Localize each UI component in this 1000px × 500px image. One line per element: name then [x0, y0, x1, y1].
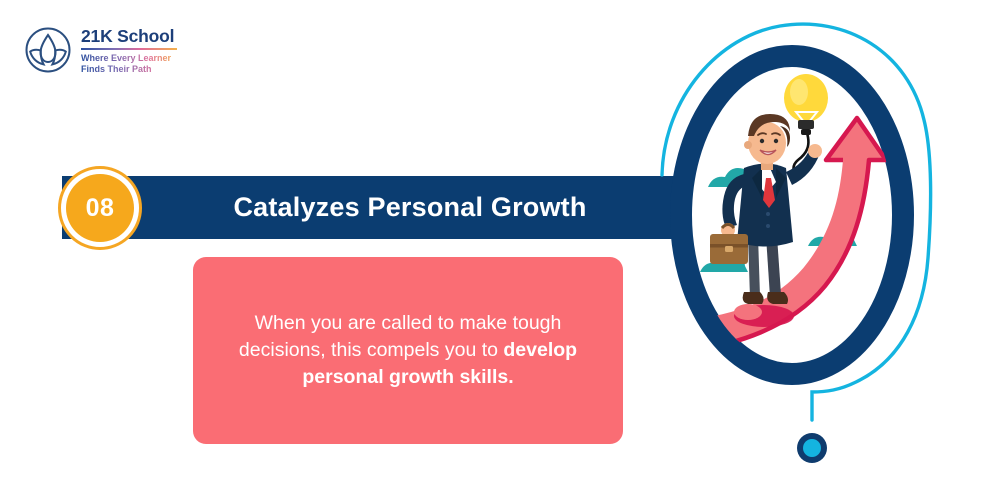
badge-disc: 08 — [66, 174, 134, 242]
cyan-end-dot — [797, 433, 827, 463]
step-number-badge: 08 — [58, 166, 152, 250]
description-card: When you are called to make tough decisi… — [193, 257, 623, 444]
lotus-circle-icon — [24, 26, 72, 74]
brand-underline-rule — [81, 48, 177, 51]
brand-tagline-line1: Where Every Learner — [81, 53, 171, 63]
brand-logo-text: 21K School Where Every Learner Finds The… — [81, 26, 177, 74]
hand-up — [808, 144, 822, 158]
badge-number: 08 — [86, 194, 115, 223]
page-title: Catalyzes Personal Growth — [150, 176, 670, 239]
brand-tagline: Where Every Learner Finds Their Path — [81, 53, 177, 74]
brand-name: 21K School — [81, 28, 177, 46]
businessman-rising-arrow-illustration — [640, 0, 1000, 500]
brand-logo: 21K School Where Every Learner Finds The… — [24, 26, 177, 74]
description-text: When you are called to make tough decisi… — [193, 310, 623, 391]
brand-tagline-line2: Finds Their Path — [81, 64, 152, 74]
slide-canvas: 21K School Where Every Learner Finds The… — [0, 0, 1000, 500]
